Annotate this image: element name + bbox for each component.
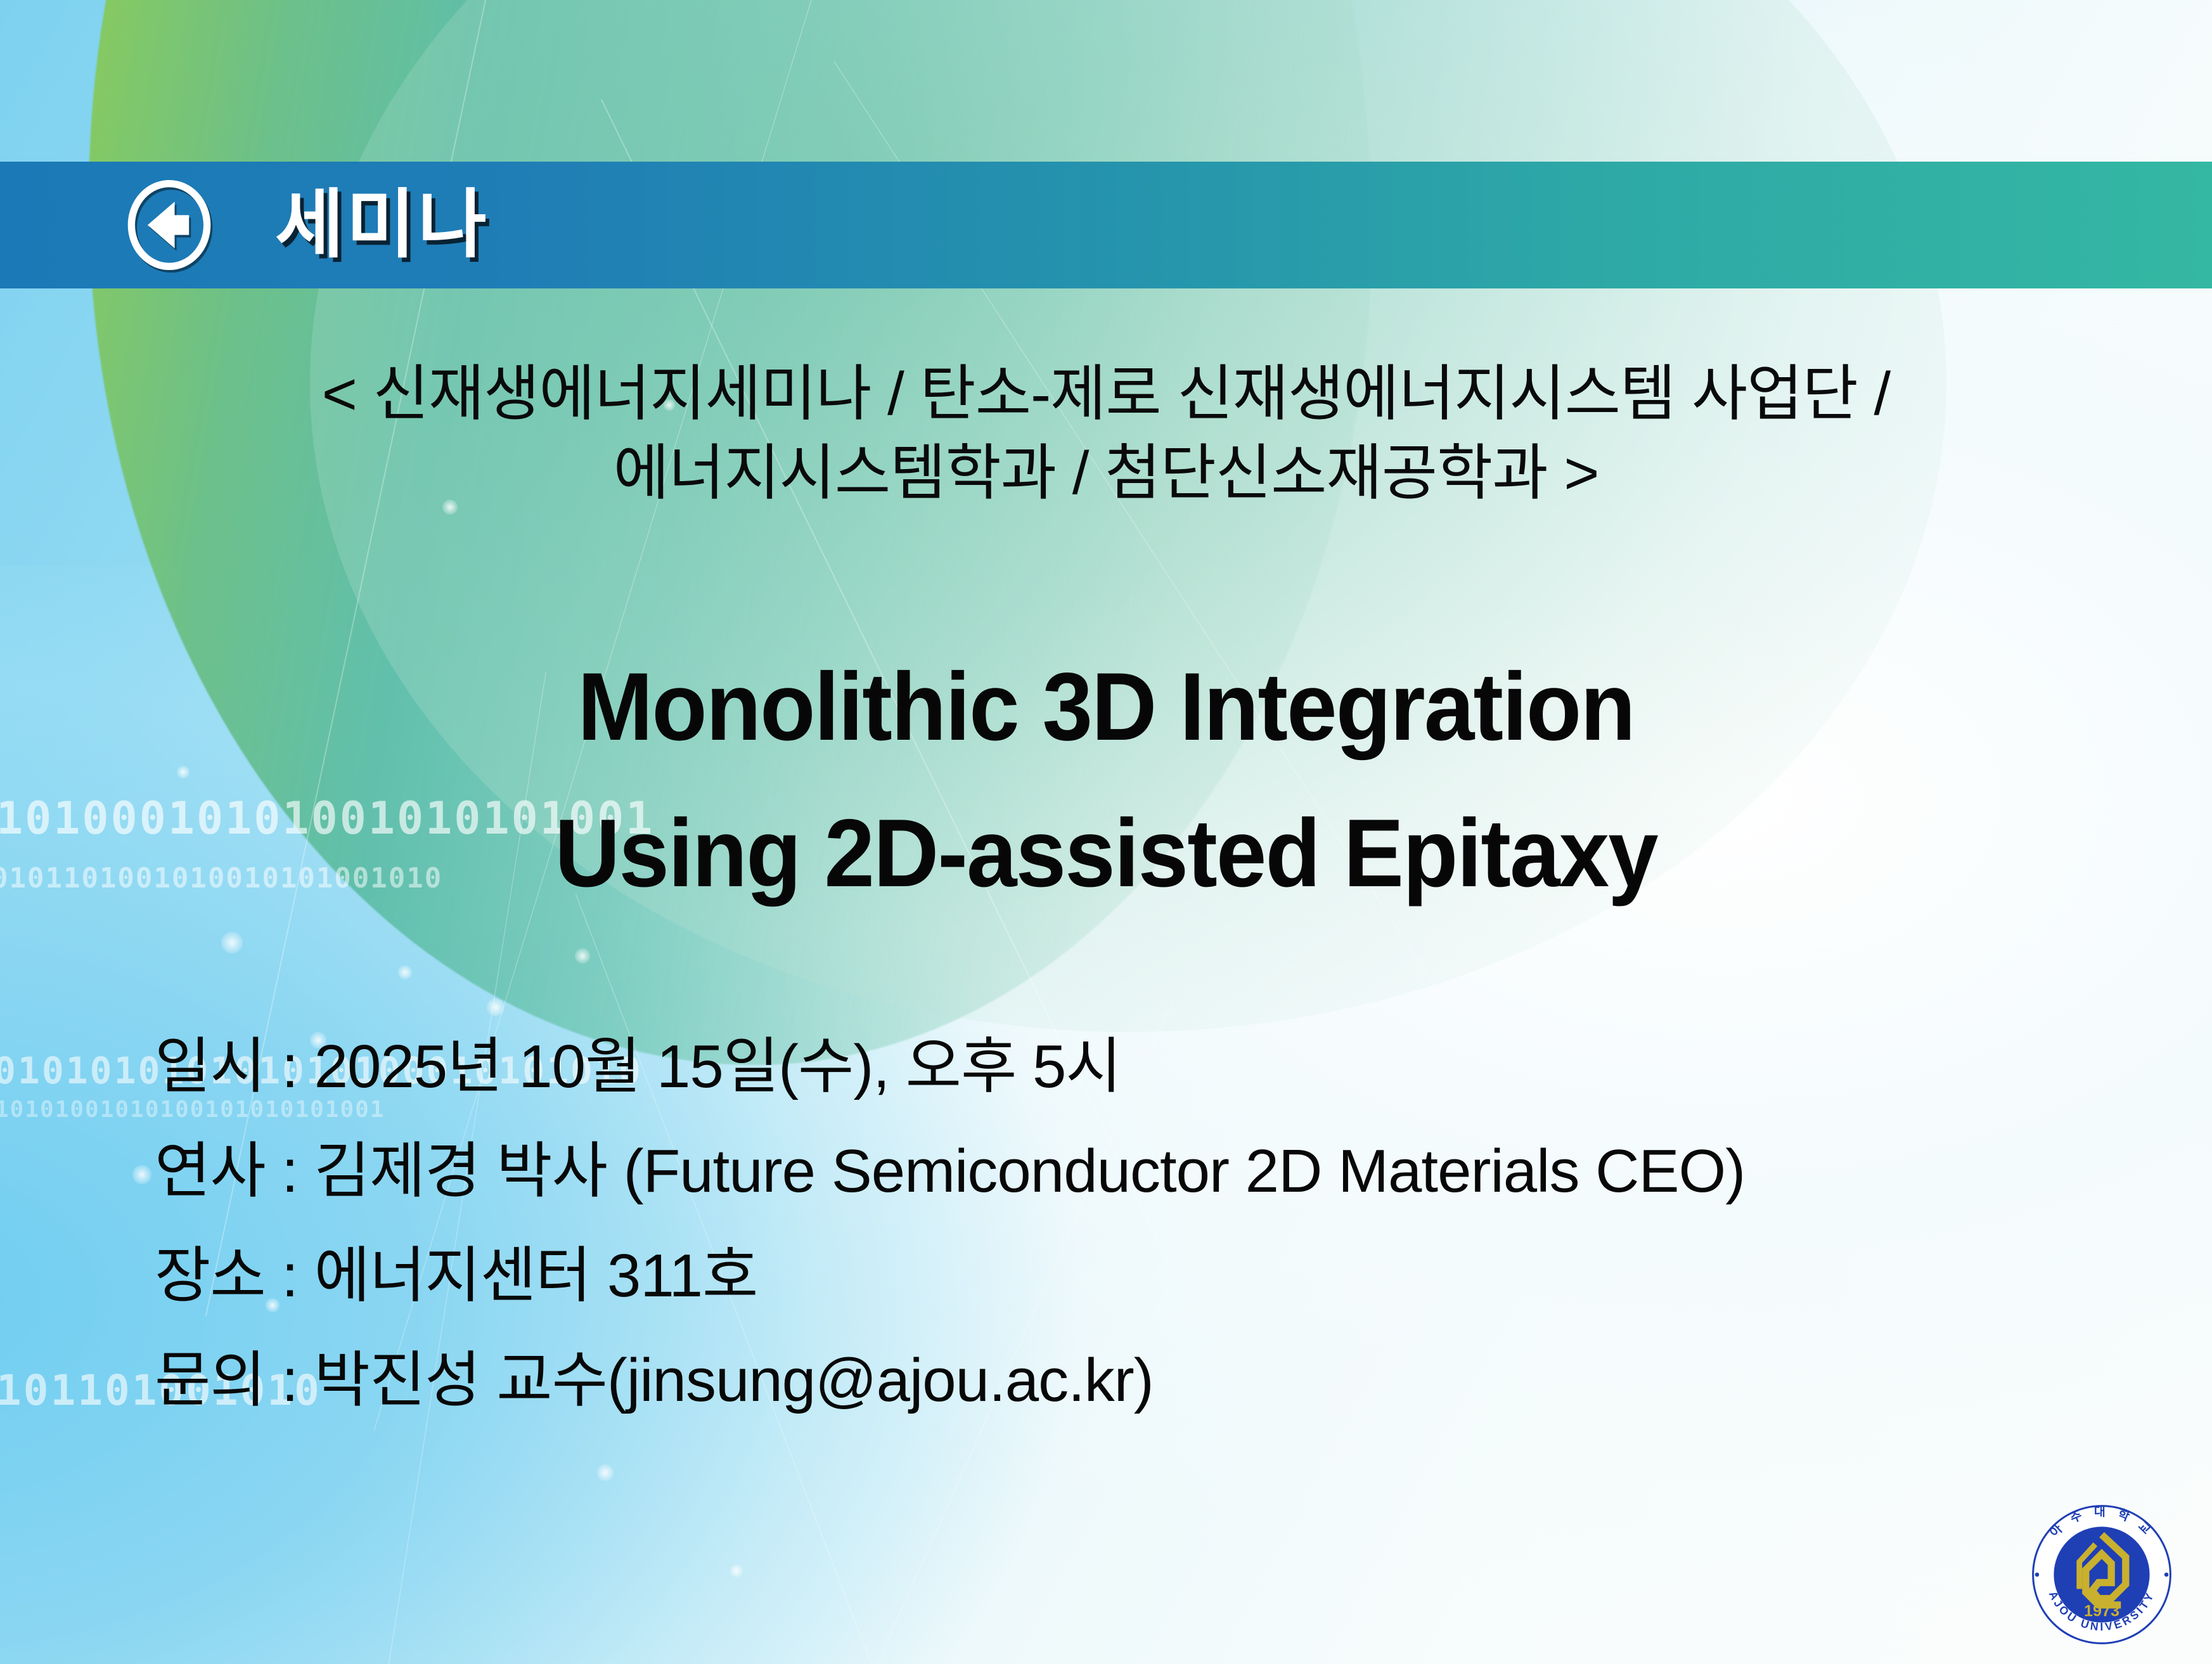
header-bar: 세미나: [0, 162, 2212, 288]
header-title: 세미나: [275, 188, 489, 262]
detail-speaker: 연사 : 김제경 박사 (Future Semiconductor 2D Mat…: [155, 1119, 1745, 1223]
breadcrumb-line-2: 에너지시스템학과 / 첨단신소재공학과 >: [0, 434, 2212, 513]
title-line-1: Monolithic 3D Integration: [67, 634, 2146, 780]
seminar-poster: 10100010101001010101001 0101101001010010…: [0, 0, 2212, 1664]
breadcrumb-line-1: < 신재생에너지세미나 / 탄소-제로 신재생에너지시스템 사업단 /: [0, 355, 2212, 434]
detail-datetime: 일시 : 2025년 10월 15일(수), 오후 5시: [155, 1014, 1745, 1119]
detail-contact: 문의 : 박진성 교수(jinsung@ajou.ac.kr): [155, 1328, 1745, 1433]
ajou-university-logo: 1973 아 주 대 학 교 AJOU UNIVERSITY: [2022, 1495, 2182, 1654]
title-line-2: Using 2D-assisted Epitaxy: [67, 780, 2146, 927]
detail-location: 장소 : 에너지센터 311호: [155, 1223, 1745, 1328]
seminar-breadcrumb: < 신재생에너지세미나 / 탄소-제로 신재생에너지시스템 사업단 / 에너지시…: [0, 355, 2212, 513]
seminar-details: 일시 : 2025년 10월 15일(수), 오후 5시 연사 : 김제경 박사…: [155, 1014, 1745, 1433]
logo-year: 1973: [2084, 1603, 2119, 1620]
back-arrow-circle-icon[interactable]: [124, 180, 214, 270]
seminar-title: Monolithic 3D Integration Using 2D-assis…: [67, 634, 2146, 927]
